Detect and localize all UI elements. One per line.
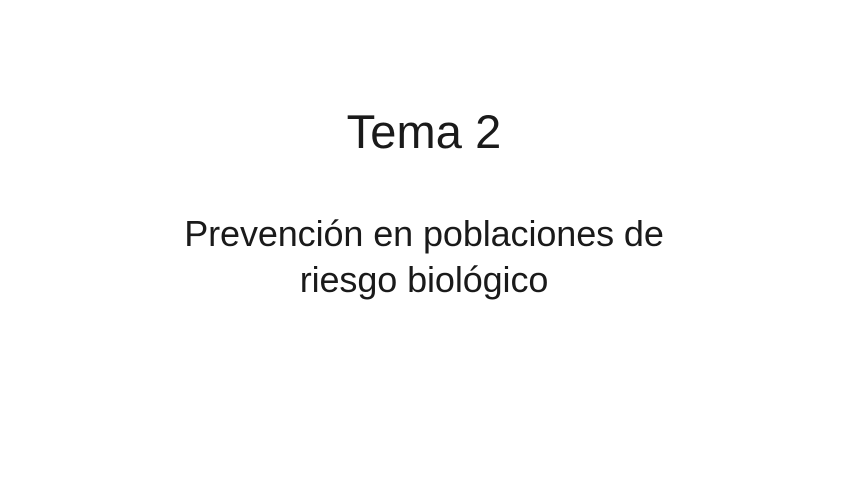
- subtitle-line-2: riesgo biológico: [64, 257, 784, 303]
- slide-title: Tema 2: [64, 104, 784, 159]
- slide-subtitle: Prevención en poblaciones de riesgo biol…: [64, 211, 784, 303]
- presentation-slide: Tema 2 Prevención en poblaciones de ries…: [0, 0, 848, 477]
- subtitle-placeholder[interactable]: Prevención en poblaciones de riesgo biol…: [64, 211, 784, 303]
- title-placeholder[interactable]: Tema 2: [64, 104, 784, 159]
- subtitle-line-1: Prevención en poblaciones de: [64, 211, 784, 257]
